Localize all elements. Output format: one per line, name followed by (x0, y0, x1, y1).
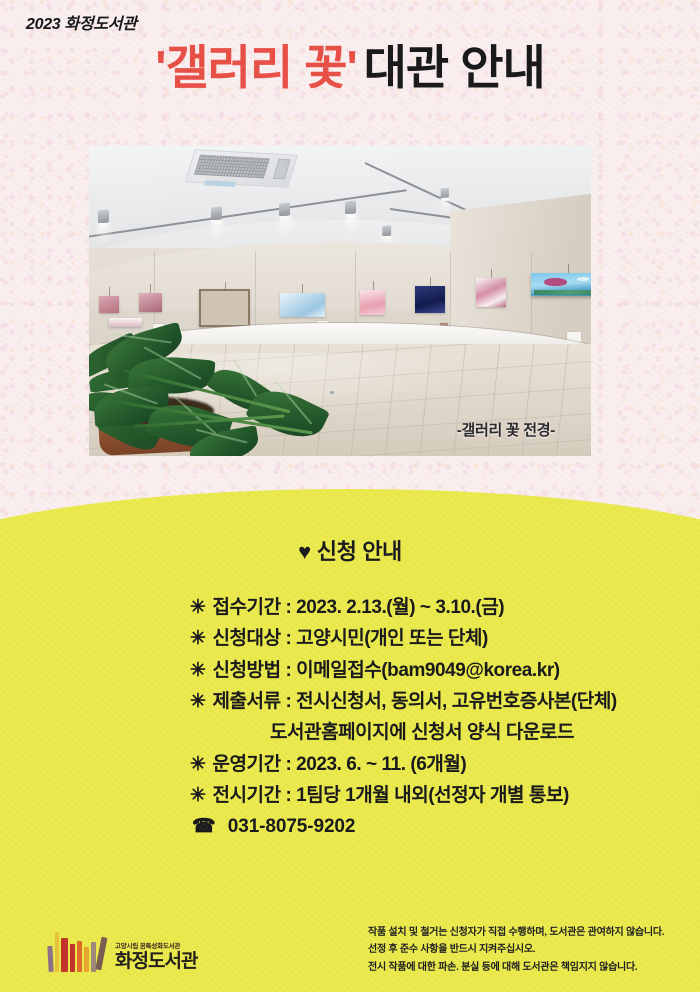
title-highlight: '갤러리 꽃' (155, 41, 356, 94)
info-label: 신청방법 (212, 660, 280, 681)
spotlight-icon (98, 210, 111, 227)
info-value: 2023. 2.13.(월) ~ 3.10.(금) (296, 597, 504, 618)
info-label: 운영기간 (212, 754, 280, 775)
heart-icon: ♥ (298, 539, 311, 564)
asterisk-icon: ✳ (190, 754, 205, 775)
info-value: 전시신청서, 동의서, 고유번호증사본(단체) (296, 691, 617, 712)
application-info: ♥신청 안내 ✳접수기간 : 2023. 2.13.(월) ~ 3.10.(금)… (0, 534, 700, 843)
title-rest: 대관 안내 (364, 41, 545, 94)
asterisk-icon: ✳ (190, 691, 205, 712)
spotlight-icon (382, 226, 392, 240)
list-item: ✳전시기간 : 1팀당 1개월 내외(선정자 개별 통보) (20, 780, 680, 811)
artwork (280, 293, 325, 316)
asterisk-icon: ✳ (190, 628, 205, 649)
phone-number[interactable]: 031-8075-9202 (228, 816, 356, 837)
info-value: 2023. 6. ~ 11. (6개월) (296, 754, 466, 775)
asterisk-icon: ✳ (190, 660, 205, 681)
artwork (531, 273, 591, 296)
list-item: ✳접수기간 : 2023. 2.13.(월) ~ 3.10.(금) (20, 592, 680, 623)
info-value-email[interactable]: 이메일접수(bam9049@korea.kr) (296, 660, 560, 681)
library-logo: 고양시립 꿈특성화도서관 화정도서관 (48, 928, 197, 972)
artwork (99, 296, 119, 313)
spotlight-icon (211, 207, 224, 224)
list-item: ✳제출서류 : 전시신청서, 동의서, 고유번호증사본(단체) (20, 686, 680, 717)
spotlight-icon (345, 201, 358, 218)
asterisk-icon: ✳ (190, 597, 205, 618)
books-icon (48, 928, 106, 972)
info-label: 전시기간 (212, 785, 280, 806)
gallery-photo: -갤러리 꽃 전경- (89, 146, 591, 456)
info-value: 1팀당 1개월 내외(선정자 개별 통보) (296, 785, 569, 806)
info-value: 고양시민(개인 또는 단체) (296, 628, 488, 649)
contact-phone[interactable]: ☎ 031-8075-9202 (20, 811, 680, 842)
poster-kicker: 2023 화정도서관 (26, 10, 137, 34)
list-item: ✳신청방법 : 이메일접수(bam9049@korea.kr) (20, 655, 680, 686)
info-label: 접수기간 (212, 597, 280, 618)
info-heading: ♥신청 안내 (20, 534, 680, 566)
page-title: '갤러리 꽃'대관 안내 (0, 44, 700, 91)
artwork (415, 286, 445, 314)
logo-subtitle: 고양시립 꿈특성화도서관 (115, 940, 197, 950)
info-list: ✳접수기간 : 2023. 2.13.(월) ~ 3.10.(금) ✳신청대상 … (20, 592, 680, 843)
poster-root: 2023 화정도서관 '갤러리 꽃'대관 안내 (0, 0, 700, 992)
logo-name: 화정도서관 (115, 952, 197, 971)
footer-note: 전시 작품에 대한 파손. 분실 등에 대해 도서관은 책임지지 않습니다. (368, 959, 692, 977)
logo-text: 고양시립 꿈특성화도서관 화정도서관 (115, 940, 197, 972)
photo-caption: -갤러리 꽃 전경- (457, 419, 555, 440)
vent-slot (273, 159, 291, 179)
artwork (109, 318, 142, 327)
footer-note: 작품 설치 및 철거는 신청자가 직접 수행하며, 도서관은 관여하지 않습니다… (368, 924, 692, 942)
artwork (199, 289, 249, 328)
list-item: ✳운영기간 : 2023. 6. ~ 11. (6개월) (20, 749, 680, 780)
list-item: ✳신청대상 : 고양시민(개인 또는 단체) (20, 623, 680, 654)
artwork (476, 278, 506, 307)
artwork (360, 290, 385, 315)
vent-grille (195, 154, 270, 178)
footer-notes: 작품 설치 및 철거는 신청자가 직접 수행하며, 도서관은 관여하지 않습니다… (368, 924, 692, 977)
info-label: 제출서류 (212, 691, 280, 712)
footer: 고양시립 꿈특성화도서관 화정도서관 작품 설치 및 철거는 신청자가 직접 수… (0, 910, 700, 992)
spotlight-icon (279, 203, 292, 220)
asterisk-icon: ✳ (190, 785, 205, 806)
telephone-icon: ☎ (192, 816, 216, 837)
spotlight-icon (441, 188, 451, 201)
info-heading-label: 신청 안내 (317, 539, 402, 564)
footer-note: 선정 후 준수 사항을 반드시 지켜주십시오. (368, 941, 692, 959)
ceiling-vent-icon (185, 149, 299, 187)
submit-note: 도서관홈페이지에 신청서 양식 다운로드 (20, 717, 680, 748)
info-label: 신청대상 (212, 628, 280, 649)
artwork (139, 293, 162, 312)
